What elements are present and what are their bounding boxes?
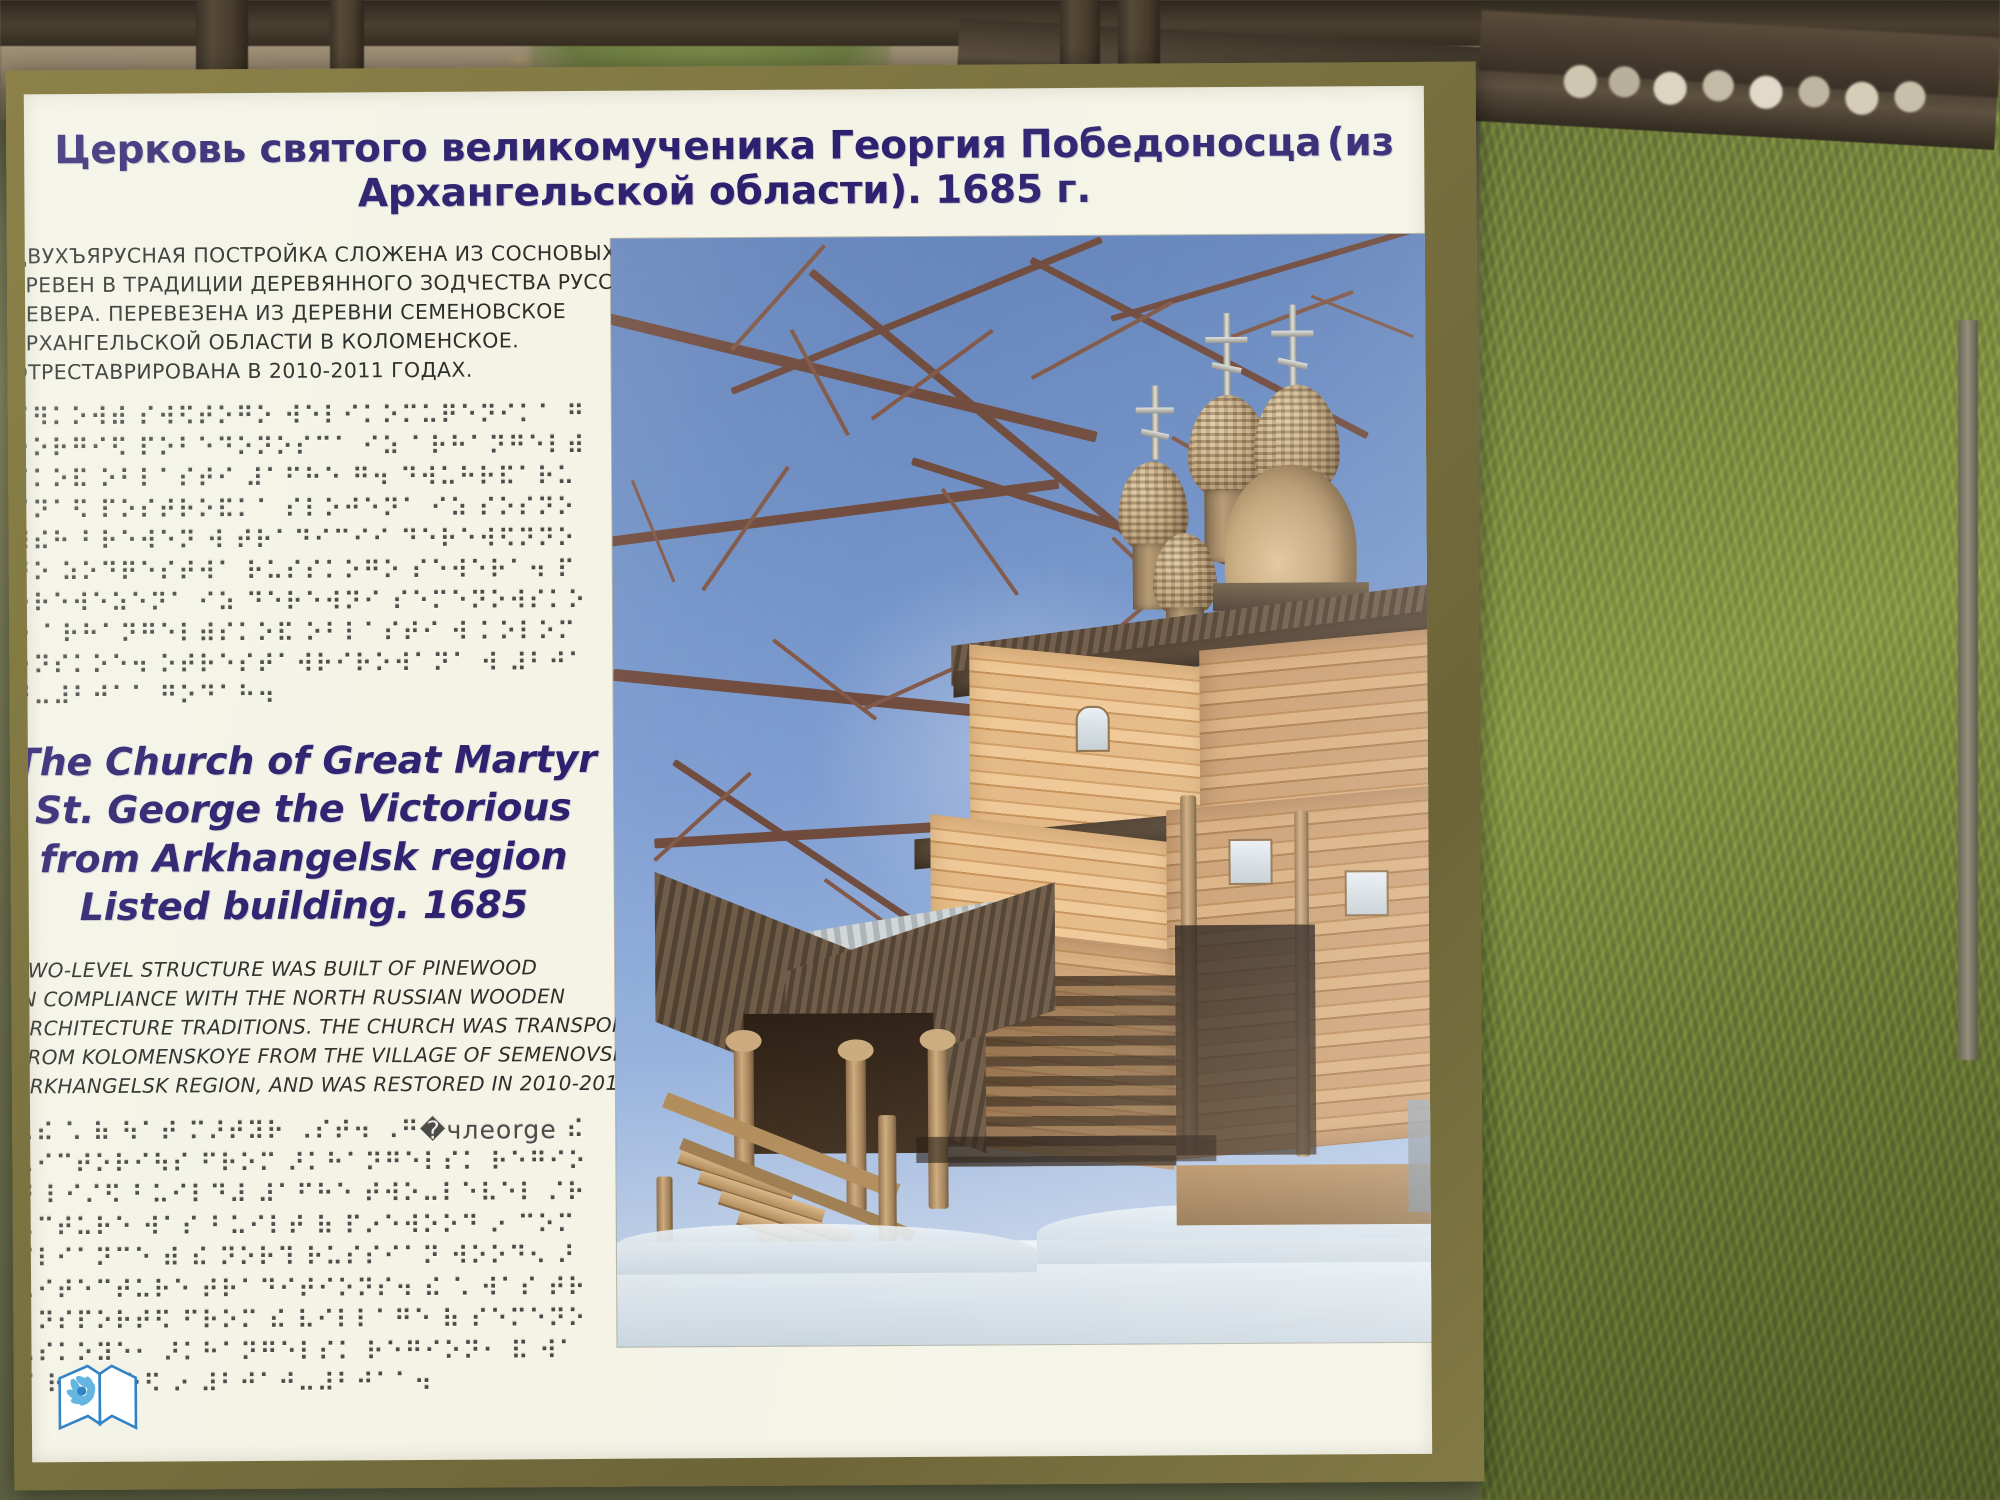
english-line: TWO-LEVEL STRUCTURE WAS BUILT OF PINEWOO… (24, 953, 593, 986)
cross-left (1223, 313, 1231, 399)
dormer-window (1076, 706, 1110, 752)
russian-line: СЕВЕРА. ПЕРЕВЕЗЕНА ИЗ ДЕРЕВНИ СЕМЕНОВСКО… (24, 297, 583, 330)
porch-column-right (928, 1037, 949, 1209)
window-3 (1345, 870, 1389, 916)
page-title: Церковь святого великомученика Георгия П… (24, 120, 1425, 219)
russian-description: ДВУХЪЯРУСНАЯ ПОСТРОЙКА СЛОЖЕНА ИЗ СОСНОВ… (24, 239, 590, 388)
russian-line: ОТРЕСТАВРИРОВАНА В 2010-2011 ГОДАХ. (24, 355, 584, 388)
title-line-russian-1: Церковь святого великомученика Георгия П… (54, 120, 1321, 173)
distant-building (1408, 1100, 1432, 1212)
russian-line: АРХАНГЕЛЬСКОЙ ОБЛАСТИ В КОЛОМЕНСКОЕ. (24, 326, 584, 359)
english-title-line: The Church of Great Martyr (24, 734, 592, 786)
photo-scene: Церковь святого великомученика Георгия П… (0, 0, 2000, 1500)
english-description: TWO-LEVEL STRUCTURE WAS BUILT OF PINEWOO… (24, 953, 594, 1102)
russian-line: ДВУХЪЯРУСНАЯ ПОСТРОЙКА СЛОЖЕНА ИЗ СОСНОВ… (24, 239, 583, 272)
english-line: IN COMPLIANCE WITH THE NORTH RUSSIAN WOO… (24, 982, 594, 1015)
background-pole (1958, 320, 1978, 1060)
english-title: The Church of Great Martyr St. George th… (24, 734, 593, 932)
braille-text-russian: ⠉⠻⠅⠕⠺⠾ ⠎⠺⠫⠞⠕⠛⠕ ⠺⠑⠇⠊⠅⠕⠍⠥⠟⠑⠝⠊⠅⠁ ⠛⠑⠕⠗⠛⠊⠫ ⠏⠕… (24, 398, 592, 712)
english-title-line: St. George the Victorious (24, 783, 593, 835)
text-column: ДВУХЪЯРУСНАЯ ПОСТРОЙКА СЛОЖЕНА ИЗ СОСНОВ… (24, 239, 596, 1401)
english-line: ARKHANGELSK REGION, AND WAS RESTORED IN … (24, 1069, 594, 1102)
grass-area-right (1480, 0, 2000, 1500)
english-title-line: Listed building. 1685 (24, 880, 593, 932)
cross-right (1152, 385, 1159, 459)
russian-line: БРЕВЕН В ТРАДИЦИИ ДЕРЕВЯННОГО ЗОДЧЕСТВА … (24, 268, 583, 301)
fence-post-3 (1060, 0, 1100, 70)
english-line: FROM KOLOMENSKOYE FROM THE VILLAGE OF SE… (24, 1040, 594, 1073)
information-sign-frame: Церковь святого великомученика Георгия П… (6, 62, 1485, 1491)
english-line: ARCHITECTURE TRADITIONS. THE CHURCH WAS … (24, 1011, 594, 1044)
church-photograph: Wooden Church of St. George the Victorio… (611, 234, 1432, 1347)
english-title-line: from Arkhangelsk region (24, 832, 593, 884)
window-2 (1228, 839, 1272, 885)
sign-board: Церковь святого великомученика Георгия П… (24, 86, 1432, 1463)
braille-book-icon (54, 1358, 140, 1433)
